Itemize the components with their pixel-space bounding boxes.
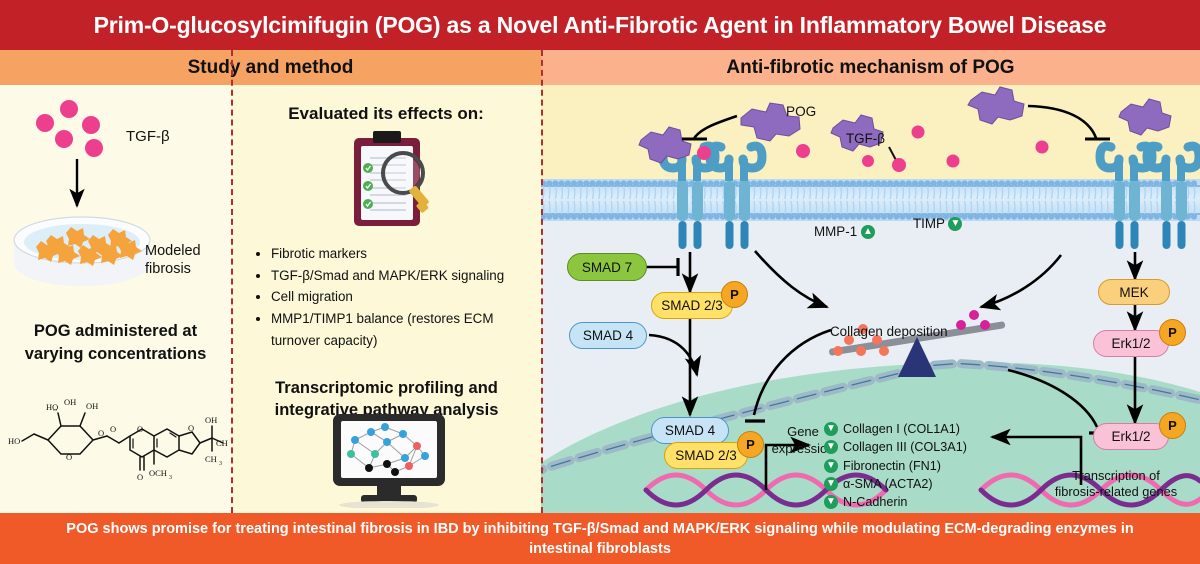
monitor-network-icon <box>325 412 455 508</box>
left-panel-illustration <box>0 85 231 315</box>
phospho-label: P <box>1168 325 1177 340</box>
transcription-label: Transcription of fibrosis-related genes <box>1041 452 1191 500</box>
phospho-badge-smad23-cyto: P <box>721 281 748 308</box>
gene-name: Fibronectin (FN1) <box>843 457 941 475</box>
check-icon <box>363 163 373 209</box>
node-smad23-nucleus[interactable]: SMAD 2/3 <box>664 442 748 469</box>
list-item: MMP1/TIMP1 balance (restores ECM turnove… <box>271 308 541 351</box>
phospho-badge-erk-nuc: P <box>1159 412 1186 439</box>
node-smad23-label: SMAD 2/3 <box>661 298 723 313</box>
structure-atom-labels: HO HO ,, OH OH O O O O O O OCH 3 OH CH 3… <box>8 397 228 482</box>
svg-text:O: O <box>66 452 72 462</box>
section-header-mechanism: Anti-fibrotic mechanism of POG <box>541 50 1200 85</box>
svg-text:O: O <box>98 428 104 438</box>
svg-text:O: O <box>137 472 143 482</box>
collagen-deposition-label: Collagen deposition <box>830 324 948 339</box>
mmp1-text: MMP-1 <box>814 224 857 239</box>
svg-text:OCH: OCH <box>149 468 167 478</box>
pog-administered-label: POG administered at varying concentratio… <box>8 298 223 365</box>
tgfb-label-right: TGF-β <box>846 131 885 146</box>
clipboard-magnifier-icon <box>340 128 450 238</box>
node-erk-nuc-label: Erk1/2 <box>1111 429 1150 444</box>
down-arrow-icon: ▼ <box>824 459 838 473</box>
list-item: ▼Collagen III (COL3A1) <box>824 438 967 456</box>
gene-list: ▼Collagen I (COL1A1) ▼Collagen III (COL3… <box>824 420 967 511</box>
mmp1-label: MMP-1 ▲ <box>814 224 875 239</box>
conclusion-banner: POG shows promise for treating intestina… <box>0 513 1200 564</box>
gene-name: Collagen I (COL1A1) <box>843 420 960 438</box>
node-smad4-label: SMAD 4 <box>583 328 633 343</box>
title-banner: Prim-O-glucosylcimifugin (POG) as a Nove… <box>0 0 1200 50</box>
list-item: ▼Fibronectin (FN1) <box>824 457 967 475</box>
node-smad7-label: SMAD 7 <box>582 260 632 275</box>
section-header-study-label: Study and method <box>188 57 354 79</box>
section-header-study: Study and method <box>0 50 541 85</box>
down-arrow-icon: ▼ <box>824 495 838 509</box>
list-item: ▼N-Cadherin <box>824 493 967 511</box>
modeled-fibrosis-label: Modeled fibrosis <box>145 224 201 278</box>
svg-text:O: O <box>188 423 194 433</box>
phospho-label: P <box>1168 418 1177 433</box>
section-header-mechanism-label: Anti-fibrotic mechanism of POG <box>726 57 1014 79</box>
transcription-text: Transcription of fibrosis-related genes <box>1055 468 1177 499</box>
page-title: Prim-O-glucosylcimifugin (POG) as a Nove… <box>94 12 1107 39</box>
down-arrow-icon: ▼ <box>824 477 838 491</box>
gene-name: N-Cadherin <box>843 493 907 511</box>
pog-chemical-structure: HO HO ,, OH OH O O O O O O OCH 3 OH CH 3… <box>6 396 228 506</box>
svg-text:CH: CH <box>205 454 217 464</box>
phospho-badge-smad23-nuc: P <box>737 431 764 458</box>
petri-dish <box>14 217 150 286</box>
graphical-abstract: Prim-O-glucosylcimifugin (POG) as a Nove… <box>0 0 1200 564</box>
svg-text:OH: OH <box>64 397 76 407</box>
panel-mechanism: POG TGF-β MMP-1 ▲ TIMP ▼ Collagen deposi… <box>541 85 1200 513</box>
svg-text:3: 3 <box>169 475 172 481</box>
node-smad7[interactable]: SMAD 7 <box>567 253 647 281</box>
evaluated-heading: Evaluated its effects on: <box>236 104 536 124</box>
svg-text:,,: ,, <box>53 402 57 412</box>
node-erk-label: Erk1/2 <box>1111 336 1150 351</box>
node-erk-cytoplasm[interactable]: Erk1/2 <box>1093 330 1169 357</box>
pog-administered-text: POG administered at varying concentratio… <box>25 322 207 362</box>
tgfb-ligand-left <box>697 146 711 160</box>
down-arrow-icon: ▼ <box>824 422 838 436</box>
svg-text:OH: OH <box>205 415 217 425</box>
node-smad4-cytoplasm[interactable]: SMAD 4 <box>569 322 647 349</box>
tgfb-label-left: TGF-β <box>126 128 170 145</box>
node-mek-label: MEK <box>1119 285 1148 300</box>
gene-name: Collagen III (COL3A1) <box>843 438 967 456</box>
node-mek[interactable]: MEK <box>1098 279 1170 305</box>
conclusion-text: POG shows promise for treating intestina… <box>45 519 1155 559</box>
list-item: Fibrotic markers <box>271 243 541 265</box>
list-item: TGF-β/Smad and MAPK/ERK signaling <box>271 265 541 287</box>
list-item: Cell migration <box>271 286 541 308</box>
svg-text:3: 3 <box>219 461 222 467</box>
svg-text:O: O <box>137 424 143 434</box>
svg-text:OH: OH <box>86 401 98 411</box>
phospho-label: P <box>730 287 739 302</box>
svg-text:CH: CH <box>216 438 228 448</box>
phospho-badge-erk-cyto: P <box>1159 319 1186 346</box>
divider-left <box>231 50 233 513</box>
node-smad4-nuc-label: SMAD 4 <box>665 423 715 438</box>
node-erk-nucleus[interactable]: Erk1/2 <box>1093 423 1169 450</box>
list-item: ▼Collagen I (COL1A1) <box>824 420 967 438</box>
mmp1-up-arrow-icon: ▲ <box>861 225 875 239</box>
bullet-list: Fibrotic markers TGF-β/Smad and MAPK/ERK… <box>256 243 541 352</box>
tgfb-dot-cluster <box>36 100 103 157</box>
timp-text: TIMP <box>913 216 945 231</box>
node-smad4-nucleus[interactable]: SMAD 4 <box>651 417 729 444</box>
divider-right <box>541 50 543 513</box>
timp-down-arrow-icon: ▼ <box>948 217 962 231</box>
node-smad23-nuc-label: SMAD 2/3 <box>675 448 737 463</box>
phospho-label: P <box>746 437 755 452</box>
gene-name: α-SMA (ACTA2) <box>843 475 933 493</box>
modeled-fibrosis-text: Modeled fibrosis <box>145 243 201 277</box>
svg-text:HO: HO <box>8 436 20 446</box>
svg-text:O: O <box>110 424 116 434</box>
list-item: ▼α-SMA (ACTA2) <box>824 475 967 493</box>
down-arrow-icon: ▼ <box>824 440 838 454</box>
timp-label: TIMP ▼ <box>913 216 962 231</box>
pog-label: POG <box>786 104 816 119</box>
